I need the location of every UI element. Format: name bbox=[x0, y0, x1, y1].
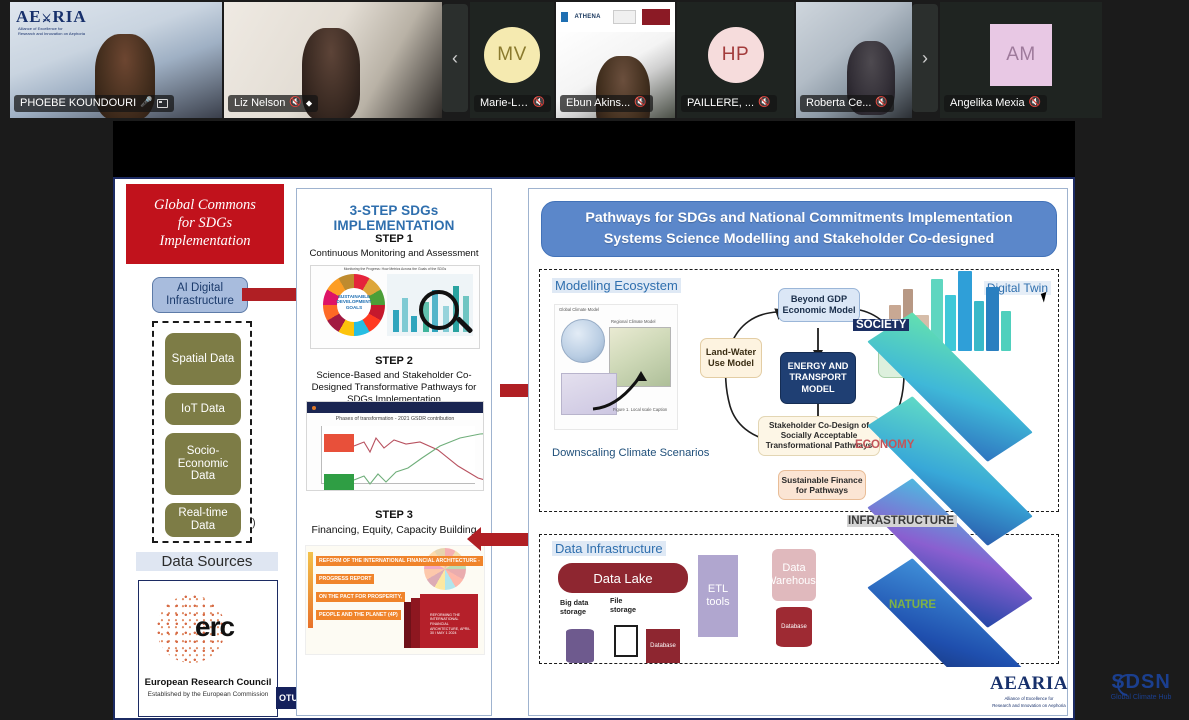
sdg-wheel-watermark-icon bbox=[424, 548, 466, 590]
erc-subtitle: Established by the European Commission bbox=[139, 691, 277, 698]
step2-plot-area bbox=[321, 426, 475, 484]
participant-nameplate-3: Ebun Akins... 🔇 bbox=[560, 95, 653, 112]
big-data-cylinder-icon bbox=[566, 629, 594, 663]
step1-subtitle: Continuous Monitoring and Assessment bbox=[297, 248, 491, 260]
microphone-muted-icon: 🔇 bbox=[533, 98, 545, 108]
banner-line-1: Global Commons bbox=[154, 197, 256, 215]
pathways-title-box: Pathways for SDGs and National Commitmen… bbox=[541, 201, 1057, 257]
erc-title: European Research Council bbox=[139, 677, 277, 688]
participant-tile-3[interactable]: ATHENA Ebun Akins... 🔇 bbox=[556, 2, 675, 118]
sdsn-subtitle: Global Climate Hub bbox=[1089, 694, 1189, 701]
avatar-initials-2: MV bbox=[484, 27, 540, 83]
microphone-muted-icon: 🔇 bbox=[289, 98, 301, 108]
participant-name-0: PHOEBE KOUNDOURI bbox=[20, 97, 136, 109]
aeria-badge-sub: Alliance of Excellence forResearch and I… bbox=[18, 26, 85, 37]
participant-name-5: Roberta Ce... bbox=[806, 97, 871, 109]
poster-line-1: REFORM OF THE INTERNATIONAL FINANCIAL AR… bbox=[316, 556, 483, 566]
sdg-wheel-center-label: SUSTAINABLE DEVELOPMENT GOALS bbox=[333, 294, 375, 310]
data-lake-box: Data Lake bbox=[558, 563, 688, 593]
zoom-meeting-window: AE⚔RIA Alliance of Excellence forResearc… bbox=[0, 0, 1189, 720]
banner-line-3: Implementation bbox=[154, 233, 256, 251]
step1-heading: STEP 1 bbox=[297, 233, 491, 245]
data-infrastructure-label: Data Infrastructure bbox=[552, 541, 666, 556]
twin-label-infrastructure: INFRASTRUCTURE bbox=[847, 515, 957, 527]
video-layout-icon bbox=[157, 99, 168, 108]
filmstrip-next-button[interactable]: › bbox=[912, 4, 938, 112]
step1-image: Monitoring the Progress: How Metrics Acr… bbox=[310, 265, 480, 349]
participant-nameplate-6: Angelika Mexia 🔇 bbox=[944, 95, 1047, 112]
participant-tile-5[interactable]: Roberta Ce... 🔇 bbox=[796, 2, 912, 118]
data-chip-iot: IoT Data bbox=[165, 393, 241, 425]
partner-logo-2 bbox=[642, 9, 670, 25]
middle-panel: 3-STEP SDGs IMPLEMENTATION STEP 1 Contin… bbox=[296, 188, 492, 716]
erc-wordmark: erc bbox=[195, 611, 234, 643]
participant-nameplate-5: Roberta Ce... 🔇 bbox=[800, 95, 894, 112]
poster-line-3: ON THE PACT FOR PROSPERITY, bbox=[316, 592, 405, 602]
twin-label-society: SOCIETY bbox=[853, 319, 909, 331]
file-storage-label: File storage bbox=[610, 597, 650, 614]
downscale-arrow-icon bbox=[589, 365, 659, 415]
step1-image-caption: Monitoring the Progress: How Metrics Acr… bbox=[311, 267, 479, 271]
modelling-ecosystem-label: Modelling Ecosystem bbox=[552, 278, 681, 293]
database-box-1: Database bbox=[646, 629, 680, 663]
microphone-muted-icon: 🔇 bbox=[875, 98, 887, 108]
aeria-sub1: Alliance of Excellence for bbox=[981, 696, 1077, 702]
participant-tile-4[interactable]: HP PAILLERE, ... 🔇 bbox=[677, 2, 794, 118]
step2-image: Phases of transformation - 2021 GSDR con… bbox=[306, 401, 484, 491]
aeria-sub2: Research and Innovation on Aephoria bbox=[981, 703, 1077, 709]
microphone-muted-icon: 🔇 bbox=[1029, 98, 1041, 108]
globe-icon bbox=[561, 319, 605, 363]
participant-name-6: Angelika Mexia bbox=[950, 97, 1025, 109]
arrow-left-to-middle bbox=[242, 288, 298, 301]
ai-digital-infrastructure-box: AI Digital Infrastructure bbox=[152, 277, 248, 313]
athena-logo-text: ATHENA bbox=[574, 14, 600, 20]
twin-label-economy: ECONOMY bbox=[855, 439, 914, 451]
step3-heading: STEP 3 bbox=[297, 509, 491, 521]
athena-banner: ATHENA bbox=[556, 2, 675, 32]
data-chip-realtime: Real-time Data bbox=[165, 503, 241, 537]
phases-transformation-curves bbox=[354, 428, 484, 490]
right-panel: Pathways for SDGs and National Commitmen… bbox=[528, 188, 1068, 716]
step2-titlebar bbox=[307, 402, 483, 413]
participant-nameplate-2: Marie-Line ... 🔇 bbox=[474, 95, 551, 112]
poster-line-4: PEOPLE AND THE PLANET (4P) bbox=[316, 610, 401, 620]
climate-model-maps: Global Climate Model Regional Climate Mo… bbox=[554, 304, 678, 430]
step3-image: REFORM OF THE INTERNATIONAL FINANCIAL AR… bbox=[305, 545, 485, 655]
pathways-title-line1: Pathways for SDGs and National Commitmen… bbox=[585, 208, 1012, 229]
participant-nameplate-1: Liz Nelson 🔇 ⬥ bbox=[228, 95, 318, 112]
three-step-title: 3-STEP SDGs IMPLEMENTATION bbox=[297, 203, 491, 233]
athena-block-icon bbox=[561, 12, 568, 22]
downscaling-climate-label: Downscaling Climate Scenarios bbox=[552, 446, 709, 461]
data-chip-socio-economic: Socio-Economic Data bbox=[165, 433, 241, 495]
data-chip-spatial: Spatial Data bbox=[165, 333, 241, 385]
participant-filmstrip: AE⚔RIA Alliance of Excellence forResearc… bbox=[0, 0, 1189, 120]
record-dot-icon bbox=[312, 406, 316, 410]
data-sources-label: Data Sources bbox=[136, 552, 278, 571]
twin-label-nature: NATURE bbox=[889, 599, 936, 611]
node-land-water: Land-Water Use Model bbox=[700, 338, 762, 378]
presentation-slide: Global Commons for SDGs Implementation A… bbox=[113, 177, 1075, 720]
file-document-icon bbox=[614, 625, 638, 657]
avatar-initials-6: AM bbox=[990, 24, 1052, 86]
participant-name-4: PAILLERE, ... bbox=[687, 97, 754, 109]
step2-image-caption: Phases of transformation - 2021 GSDR con… bbox=[307, 416, 483, 422]
node-energy-transport: ENERGY AND TRANSPORT MODEL bbox=[780, 352, 856, 404]
erc-logo-card: erc European Research Council Establishe… bbox=[138, 580, 278, 717]
step1-bar-chart bbox=[387, 274, 473, 336]
aeria-badge-icon: AE⚔RIA bbox=[16, 7, 87, 27]
aeria-wordmark: AEARIA bbox=[981, 673, 1077, 695]
sdsn-logo: SDSN Global Climate Hub bbox=[1089, 671, 1189, 701]
pin-icon: ⬥ bbox=[306, 98, 312, 109]
pathways-title-line2: Systems Science Modelling and Stakeholde… bbox=[604, 229, 994, 250]
participant-nameplate-0: PHOEBE KOUNDOURI 🎤 bbox=[14, 95, 174, 112]
regional-climate-model-caption: Regional Climate Model bbox=[611, 319, 655, 324]
filmstrip-prev-button[interactable]: ‹ bbox=[442, 4, 468, 112]
participant-name-1: Liz Nelson bbox=[234, 97, 285, 109]
step2-heading: STEP 2 bbox=[297, 355, 491, 367]
magnifier-icon bbox=[419, 290, 459, 330]
database-cylinder-icon: Database bbox=[776, 607, 812, 647]
participant-tile-2[interactable]: MV Marie-Line ... 🔇 bbox=[470, 2, 554, 118]
banner-line-2: for SDGs bbox=[154, 215, 256, 233]
global-commons-banner: Global Commons for SDGs Implementation bbox=[126, 184, 284, 264]
etl-tools-box: ETL tools bbox=[698, 555, 738, 637]
step3-subtitle: Financing, Equity, Capacity Building bbox=[297, 524, 491, 537]
data-warehouse-box: Data Warehouse bbox=[772, 549, 816, 601]
digital-twin-visual: Digital Twin bbox=[847, 267, 1059, 667]
left-panel: Global Commons for SDGs Implementation A… bbox=[126, 184, 288, 718]
microphone-icon: 🎤 bbox=[140, 98, 152, 108]
microphone-muted-icon: 🔇 bbox=[634, 98, 646, 108]
plot-green-annotation bbox=[324, 474, 354, 491]
stray-paren-mark: ) bbox=[252, 517, 256, 529]
participant-name-2: Marie-Line ... bbox=[480, 97, 529, 109]
plot-red-annotation bbox=[324, 434, 354, 452]
participant-tile-1[interactable]: Liz Nelson 🔇 ⬥ bbox=[224, 2, 442, 118]
shared-screen-region: Global Commons for SDGs Implementation A… bbox=[113, 121, 1075, 720]
participant-name-3: Ebun Akins... bbox=[566, 97, 630, 109]
data-sources-group: Spatial Data IoT Data Socio-Economic Dat… bbox=[152, 321, 252, 543]
poster-line-2: PROGRESS REPORT bbox=[316, 574, 374, 584]
partner-logo-1 bbox=[613, 10, 636, 24]
participant-tile-6[interactable]: AM Angelika Mexia 🔇 bbox=[940, 2, 1102, 118]
arrow-middle-to-right bbox=[500, 384, 530, 397]
microphone-muted-icon: 🔇 bbox=[758, 98, 770, 108]
global-climate-model-caption: Global Climate Model bbox=[559, 307, 599, 312]
participant-nameplate-4: PAILLERE, ... 🔇 bbox=[681, 95, 777, 112]
aeria-logo: AEARIA Alliance of Excellence for Resear… bbox=[981, 673, 1077, 708]
poster-spine bbox=[308, 552, 313, 628]
participant-tile-0[interactable]: AE⚔RIA Alliance of Excellence forResearc… bbox=[10, 2, 222, 118]
poster-book-text: REFORMING THE INTERNATIONAL FINANCIAL AR… bbox=[430, 613, 474, 636]
big-data-storage-label: Big data storage bbox=[560, 599, 606, 616]
avatar-initials-4: HP bbox=[708, 27, 764, 83]
